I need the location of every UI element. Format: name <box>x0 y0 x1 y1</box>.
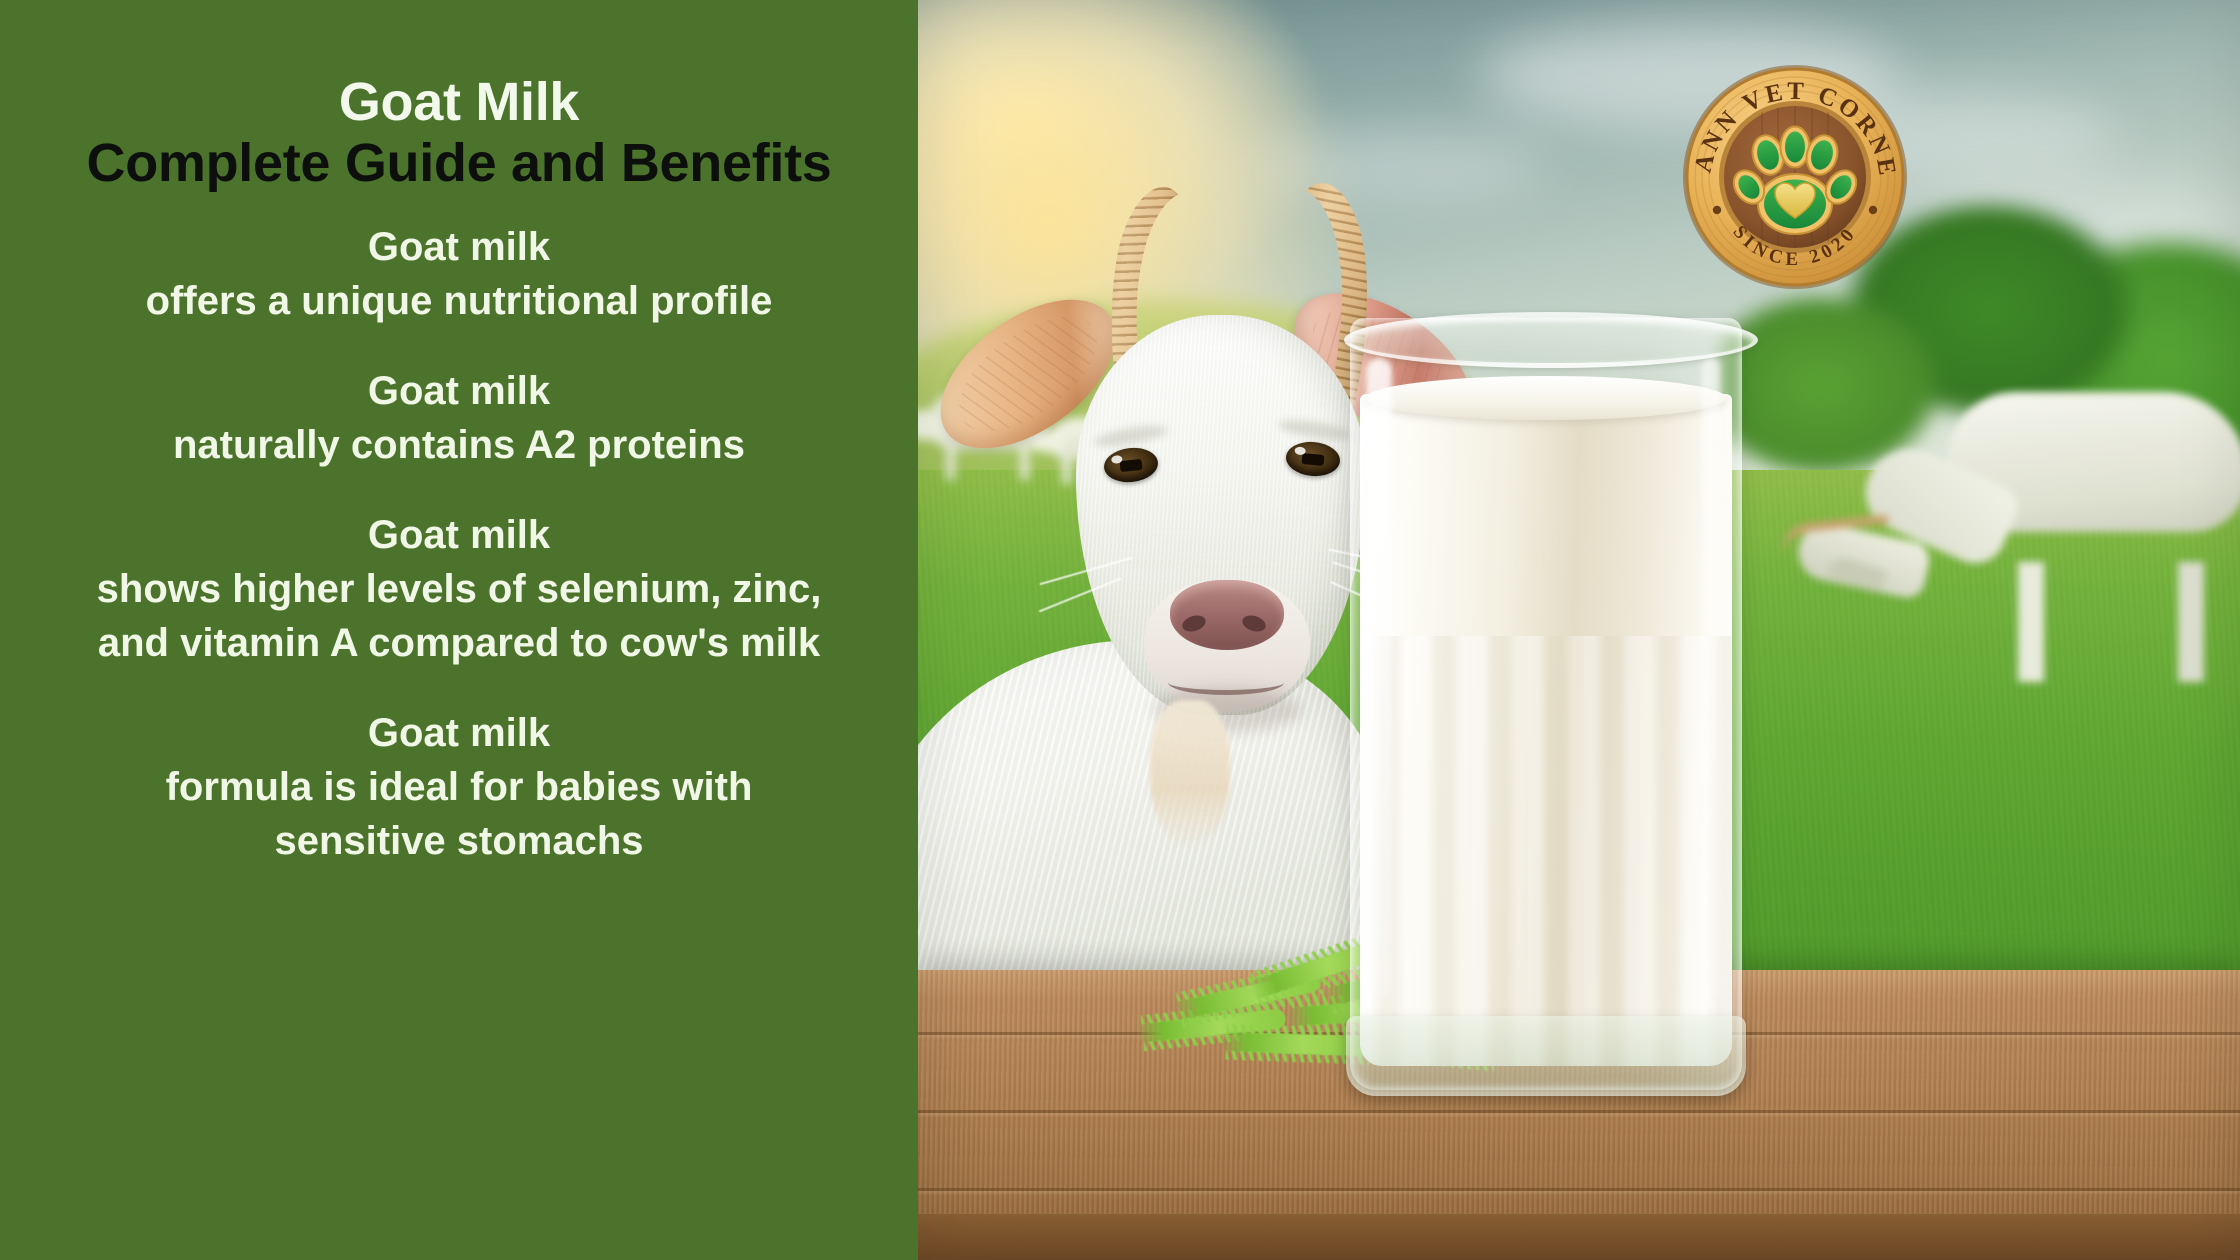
badge-dot <box>1713 206 1721 214</box>
goat-nose <box>1170 580 1284 650</box>
glass-rim <box>1344 312 1758 368</box>
table-plank-seam <box>918 1188 2240 1191</box>
goat-pupil <box>1302 453 1325 466</box>
milk-liquid <box>1360 394 1732 1066</box>
benefit-block-list: Goat milk offers a unique nutritional pr… <box>0 220 918 904</box>
title-line-1: Goat Milk <box>0 72 918 133</box>
benefit-block: Goat milk naturally contains A2 proteins <box>0 364 918 472</box>
badge-dot <box>1869 206 1877 214</box>
background-goat-leg <box>2018 562 2044 682</box>
goat-pupil <box>1120 459 1143 472</box>
background-goat-right <box>1948 392 2240 532</box>
glass-highlight <box>1366 358 1392 998</box>
glass-highlight <box>1702 358 1720 998</box>
table-plank-seam <box>918 1110 2240 1113</box>
glass-flute-facets <box>1360 636 1732 1066</box>
benefit-block: Goat milk offers a unique nutritional pr… <box>0 220 918 328</box>
milk-glass <box>1350 318 1742 1090</box>
text-panel: Goat Milk Complete Guide and Benefits Go… <box>0 0 918 1260</box>
goat-milk-infographic-poster: MANN VET CORNER SINCE 2020 <box>0 0 2240 1260</box>
badge-artwork: MANN VET CORNER SINCE 2020 <box>1676 58 1914 296</box>
milk-surface <box>1366 376 1726 420</box>
background-goat-leg <box>2178 562 2204 682</box>
page-title: Goat Milk Complete Guide and Benefits <box>0 72 918 194</box>
benefit-lead: Goat milk <box>0 508 918 562</box>
benefit-body: shows higher levels of selenium, zinc,an… <box>0 562 918 670</box>
benefit-body: offers a unique nutritional profile <box>0 274 918 328</box>
benefit-block: Goat milk formula is ideal for babies wi… <box>0 706 918 868</box>
benefit-body: naturally contains A2 proteins <box>0 418 918 472</box>
benefit-lead: Goat milk <box>0 220 918 274</box>
benefit-block: Goat milk shows higher levels of seleniu… <box>0 508 918 670</box>
benefit-lead: Goat milk <box>0 364 918 418</box>
table-front-edge <box>918 1214 2240 1260</box>
goat-beard <box>1150 700 1230 850</box>
benefit-body: formula is ideal for babies withsensitiv… <box>0 760 918 868</box>
benefit-lead: Goat milk <box>0 706 918 760</box>
glass-base <box>1346 1016 1746 1096</box>
title-line-2: Complete Guide and Benefits <box>0 133 918 194</box>
mann-vet-corner-badge[interactable]: MANN VET CORNER SINCE 2020 <box>1676 58 1914 296</box>
pasture-photo <box>918 0 2240 1260</box>
